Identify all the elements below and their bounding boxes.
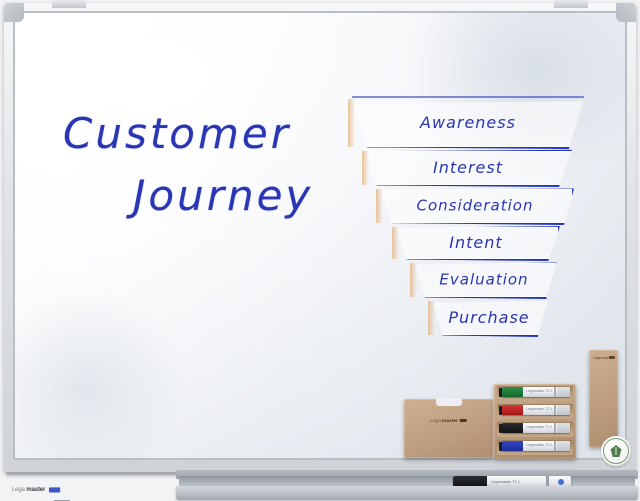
marker-end-cap bbox=[557, 423, 570, 433]
marker-tip-blue bbox=[502, 441, 523, 451]
brand-logo-mark bbox=[49, 487, 60, 492]
funnel-stage-label: Purchase bbox=[428, 308, 550, 327]
eraser-brand-light: Lega bbox=[430, 418, 441, 424]
funnel-stage-label: Intent bbox=[392, 233, 560, 252]
legamaster-logo: Lega master bbox=[12, 486, 60, 492]
wall-mount-clip-right bbox=[554, 0, 588, 8]
customer-journey-funnel: Awareness Interest Consideration Intent bbox=[348, 97, 588, 339]
pen-tray-front-face bbox=[176, 486, 638, 500]
handwritten-title-line-2: Journey bbox=[133, 171, 313, 220]
marker-band bbox=[554, 387, 556, 397]
eraser-notch bbox=[436, 398, 462, 406]
sleeve-logo-mark bbox=[609, 356, 615, 359]
marker-label: Legamaster TZ 1 bbox=[526, 407, 553, 411]
marker-tip-red bbox=[502, 405, 523, 415]
whiteboard-eraser[interactable]: Lega master bbox=[404, 399, 493, 458]
funnel-stage-purchase: Purchase bbox=[428, 299, 550, 337]
funnel-stage-evaluation: Evaluation bbox=[410, 261, 558, 299]
surface-shade-bottomleft bbox=[15, 288, 185, 458]
cardboard-sleeve[interactable]: Legamaster bbox=[589, 350, 618, 447]
tray-marker-label: Legamaster TZ 1 bbox=[491, 479, 520, 484]
marker-end-cap bbox=[557, 441, 570, 451]
marker-black[interactable]: Legamaster TZ 1 bbox=[502, 423, 570, 433]
handwritten-title-line-1: Customer bbox=[63, 109, 291, 158]
frame-corner-top-left bbox=[4, 3, 24, 22]
marker-label: Legamaster TZ 1 bbox=[526, 389, 553, 393]
funnel-stage-intent: Intent bbox=[392, 225, 560, 261]
marker-blue[interactable]: Legamaster TZ 1 bbox=[502, 441, 570, 451]
pen-tray[interactable]: Legamaster TZ 1 bbox=[176, 470, 638, 500]
brand-name-bold: master bbox=[26, 486, 45, 492]
marker-end-cap bbox=[557, 405, 570, 415]
marker-band bbox=[554, 405, 556, 415]
marker-tip-black bbox=[502, 423, 523, 433]
sleeve-brand-label: Legamaster bbox=[593, 356, 610, 360]
marker-band bbox=[554, 441, 556, 451]
funnel-stage-label: Interest bbox=[362, 158, 574, 177]
funnel-stage-label: Consideration bbox=[376, 197, 574, 215]
eco-certification-seal-icon bbox=[601, 436, 631, 466]
whiteboard-scene: Customer Journey Awareness Interest Cons… bbox=[0, 0, 640, 501]
marker-green[interactable]: Legamaster TZ 1 bbox=[502, 387, 570, 397]
marker-end-cap bbox=[557, 387, 570, 397]
funnel-stage-consideration: Consideration bbox=[376, 187, 574, 225]
wall-mount-clip-left bbox=[52, 0, 86, 8]
eraser-brand-logo: Lega master bbox=[430, 418, 467, 424]
tray-marker-end-dot bbox=[558, 479, 564, 485]
funnel-stage-label: Awareness bbox=[348, 113, 588, 132]
funnel-stage-awareness: Awareness bbox=[348, 97, 588, 149]
marker-holder[interactable]: Legamaster TZ 1 Legamaster TZ 1 Legamast… bbox=[494, 384, 576, 459]
marker-label: Legamaster TZ 1 bbox=[526, 443, 553, 447]
brand-name-light: Lega bbox=[12, 486, 25, 492]
marker-label: Legamaster TZ 1 bbox=[526, 425, 553, 429]
marker-red[interactable]: Legamaster TZ 1 bbox=[502, 405, 570, 415]
eraser-brand-bold: master bbox=[442, 418, 458, 424]
frame-corner-top-right bbox=[616, 3, 636, 22]
eraser-logo-mark bbox=[460, 419, 467, 422]
funnel-stage-label: Evaluation bbox=[410, 271, 558, 289]
funnel-stage-interest: Interest bbox=[362, 149, 574, 187]
funnel-band-overstroke bbox=[352, 96, 584, 98]
marker-band bbox=[554, 423, 556, 433]
marker-tip-green bbox=[502, 387, 523, 397]
board-under-shadow bbox=[6, 472, 176, 477]
